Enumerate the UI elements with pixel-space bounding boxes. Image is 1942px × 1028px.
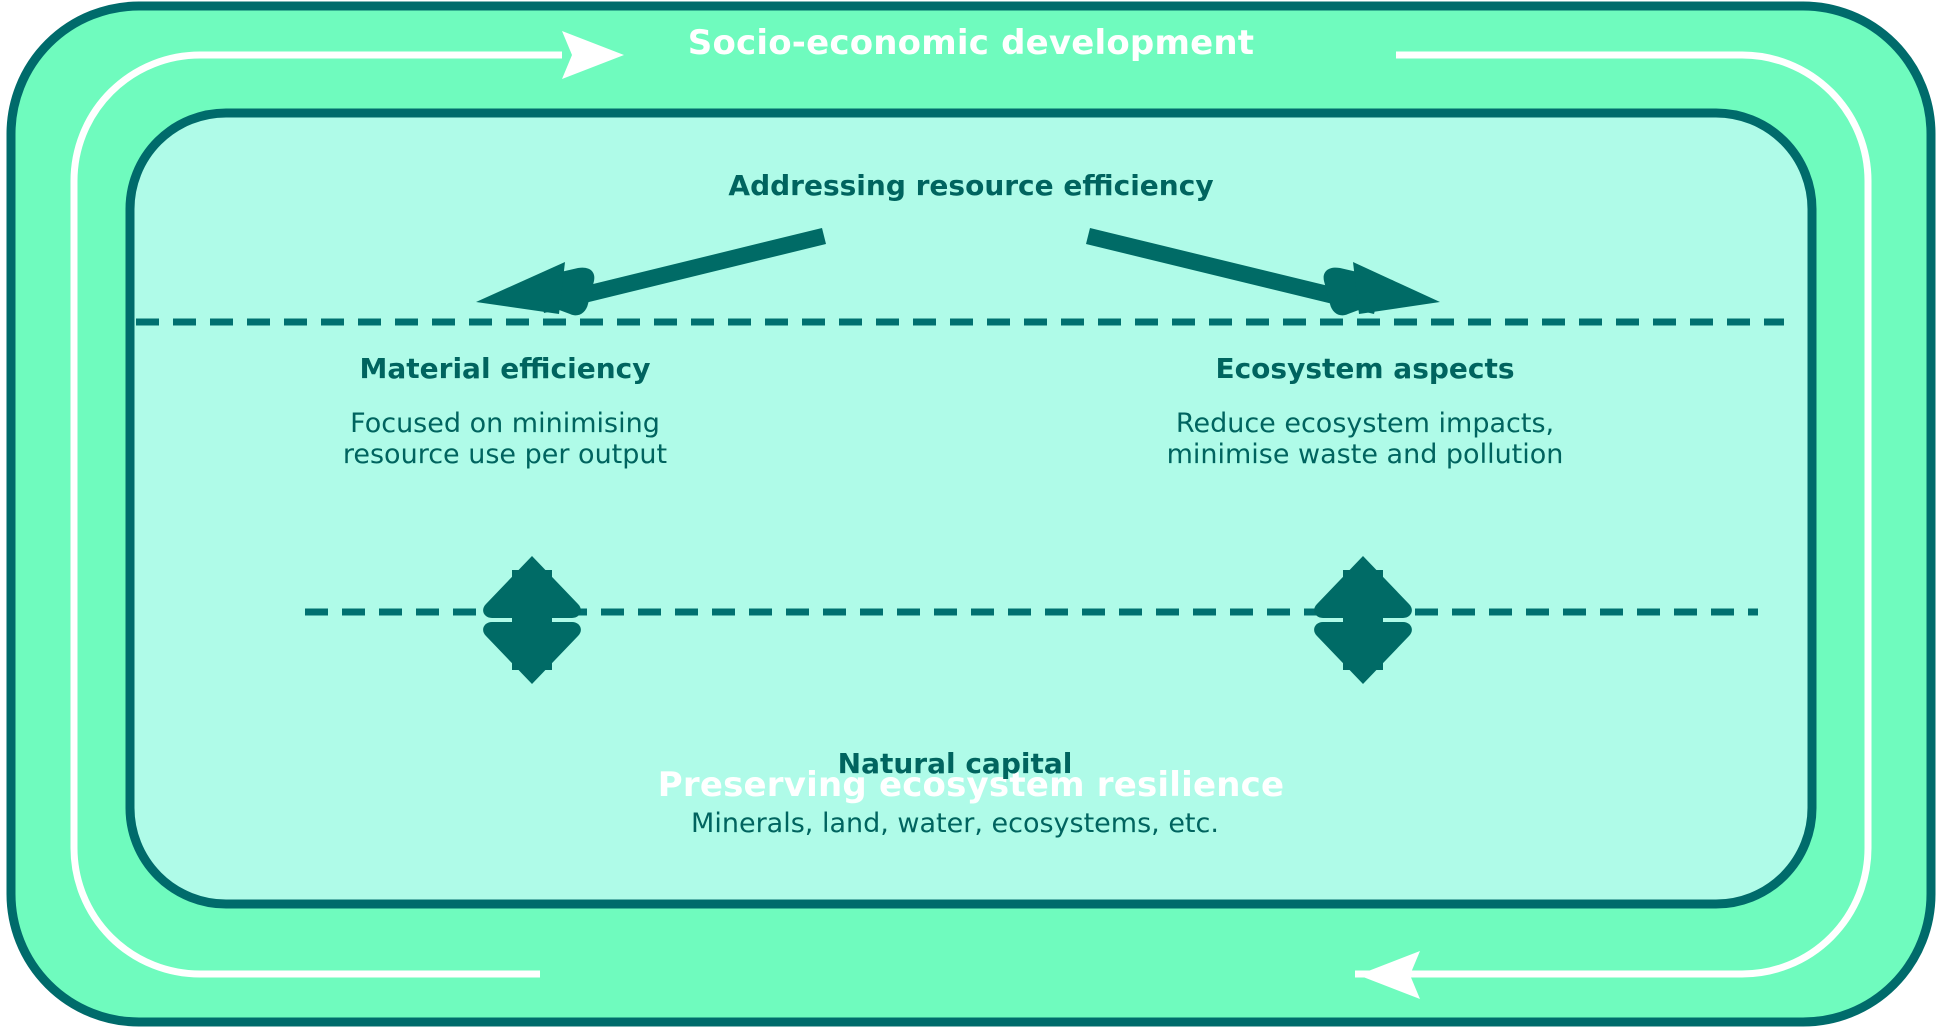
inner-panel-shape: [130, 113, 1812, 904]
diagram-canvas: Socio-economic development Preserving ec…: [0, 0, 1942, 1028]
diagram-graphics: [0, 0, 1942, 1028]
